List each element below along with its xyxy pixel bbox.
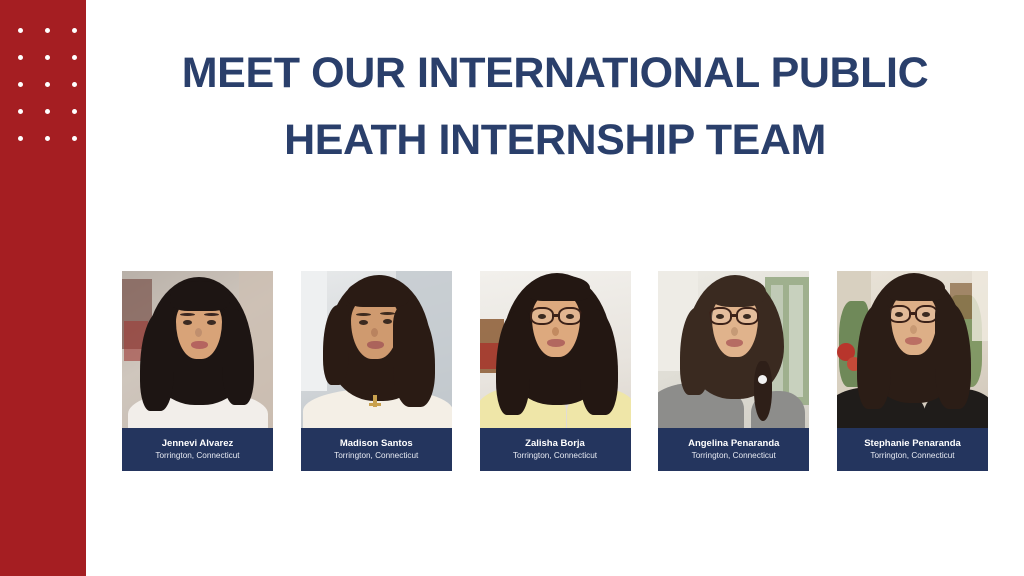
pattern-dot xyxy=(18,55,23,60)
member-location: Torrington, Connecticut xyxy=(155,450,239,461)
member-caption: Zalisha Borja Torrington, Connecticut xyxy=(480,428,631,471)
portrait-photo-zalisha-borja xyxy=(480,271,631,428)
member-caption: Madison Santos Torrington, Connecticut xyxy=(301,428,452,471)
pattern-dot xyxy=(45,82,50,87)
page-title: MEET OUR INTERNATIONAL PUBLIC HEATH INTE… xyxy=(86,40,1024,173)
team-member-card[interactable]: Madison Santos Torrington, Connecticut xyxy=(301,271,452,471)
pattern-dot xyxy=(72,55,77,60)
member-caption: Angelina Penaranda Torrington, Connectic… xyxy=(658,428,809,471)
pattern-dot xyxy=(18,136,23,141)
member-location: Torrington, Connecticut xyxy=(870,450,954,461)
pattern-dot xyxy=(72,109,77,114)
member-caption: Jennevi Alvarez Torrington, Connecticut xyxy=(122,428,273,471)
member-location: Torrington, Connecticut xyxy=(692,450,776,461)
member-name: Angelina Penaranda xyxy=(688,438,779,450)
title-line-1: MEET OUR INTERNATIONAL PUBLIC xyxy=(130,40,980,107)
title-line-2: HEATH INTERNSHIP TEAM xyxy=(130,107,980,174)
pattern-dot xyxy=(45,28,50,33)
pattern-dot xyxy=(72,28,77,33)
member-name: Stephanie Penaranda xyxy=(864,438,961,450)
member-name: Zalisha Borja xyxy=(525,438,585,450)
pattern-dot xyxy=(45,136,50,141)
member-location: Torrington, Connecticut xyxy=(334,450,418,461)
pattern-dot xyxy=(72,82,77,87)
member-caption: Stephanie Penaranda Torrington, Connecti… xyxy=(837,428,988,471)
pattern-dot xyxy=(45,109,50,114)
pattern-dot xyxy=(18,28,23,33)
dot-pattern xyxy=(18,28,77,141)
team-member-card[interactable]: Zalisha Borja Torrington, Connecticut xyxy=(480,271,631,471)
pattern-dot xyxy=(45,55,50,60)
team-member-card[interactable]: Stephanie Penaranda Torrington, Connecti… xyxy=(837,271,988,471)
pattern-dot xyxy=(72,136,77,141)
team-member-card[interactable]: Angelina Penaranda Torrington, Connectic… xyxy=(658,271,809,471)
member-location: Torrington, Connecticut xyxy=(513,450,597,461)
portrait-photo-stephanie-penaranda xyxy=(837,271,988,428)
portrait-photo-angelina-penaranda xyxy=(658,271,809,428)
member-name: Jennevi Alvarez xyxy=(162,438,233,450)
pattern-dot xyxy=(18,109,23,114)
portrait-photo-madison-santos xyxy=(301,271,452,428)
member-name: Madison Santos xyxy=(340,438,413,450)
team-member-list: Jennevi Alvarez Torrington, Connecticut xyxy=(122,271,988,471)
pattern-dot xyxy=(18,82,23,87)
portrait-photo-jennevi-alvarez xyxy=(122,271,273,428)
team-member-card[interactable]: Jennevi Alvarez Torrington, Connecticut xyxy=(122,271,273,471)
decorative-red-bar xyxy=(0,0,86,576)
